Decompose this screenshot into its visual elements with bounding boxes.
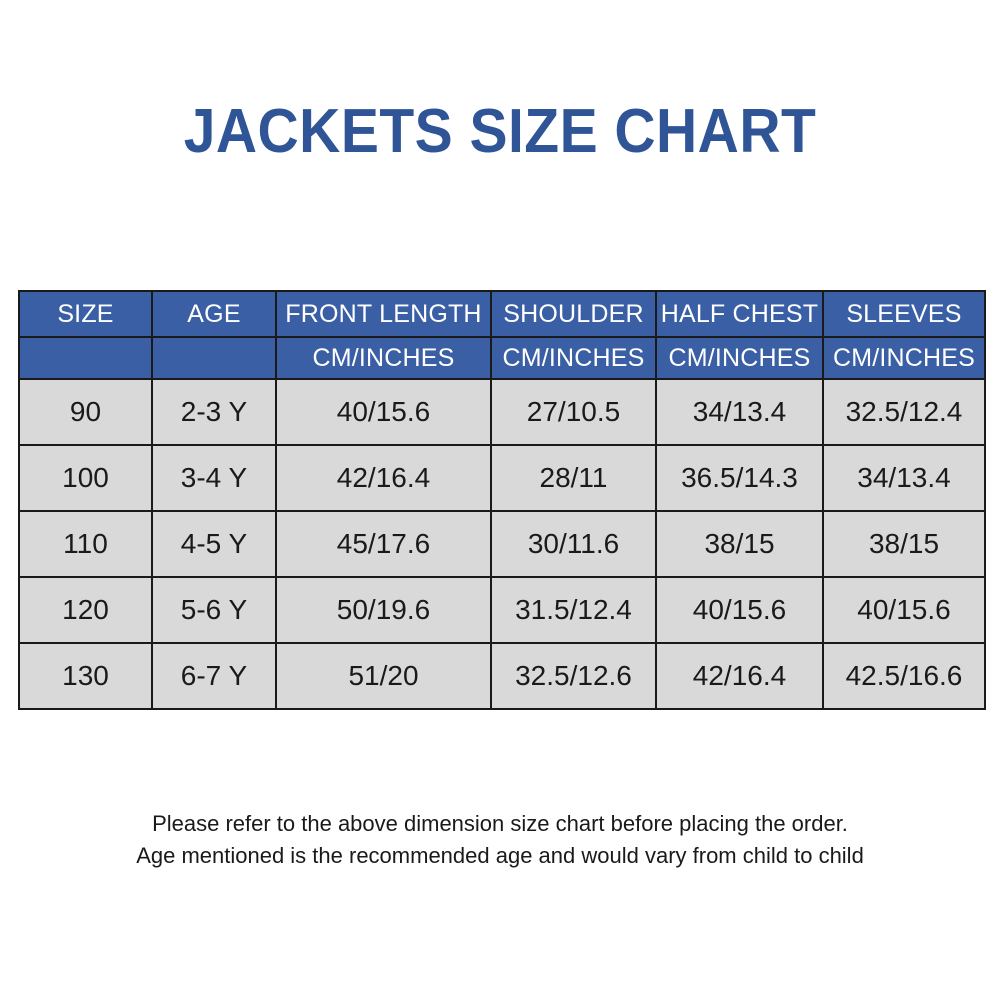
column-units-age	[152, 337, 276, 379]
footer-note: Please refer to the above dimension size…	[0, 808, 1000, 872]
cell-shoulder: 31.5/12.4	[491, 577, 656, 643]
cell-half-chest: 34/13.4	[656, 379, 823, 445]
size-chart-table: SIZE AGE FRONT LENGTH SHOULDER HALF CHES…	[18, 290, 986, 710]
cell-half-chest: 38/15	[656, 511, 823, 577]
column-header-shoulder: SHOULDER	[491, 291, 656, 337]
cell-half-chest: 36.5/14.3	[656, 445, 823, 511]
table-row: 120 5-6 Y 50/19.6 31.5/12.4 40/15.6 40/1…	[19, 577, 985, 643]
column-header-age: AGE	[152, 291, 276, 337]
table-row: 130 6-7 Y 51/20 32.5/12.6 42/16.4 42.5/1…	[19, 643, 985, 709]
column-header-front-length: FRONT LENGTH	[276, 291, 491, 337]
column-units-shoulder: CM/INCHES	[491, 337, 656, 379]
cell-half-chest: 42/16.4	[656, 643, 823, 709]
cell-shoulder: 30/11.6	[491, 511, 656, 577]
title-area: JACKETS SIZE CHART	[0, 95, 1000, 169]
cell-sleeves: 34/13.4	[823, 445, 985, 511]
cell-size: 110	[19, 511, 152, 577]
cell-shoulder: 32.5/12.6	[491, 643, 656, 709]
cell-age: 5-6 Y	[152, 577, 276, 643]
table-header-row-2: CM/INCHES CM/INCHES CM/INCHES CM/INCHES	[19, 337, 985, 379]
cell-size: 120	[19, 577, 152, 643]
column-units-sleeves: CM/INCHES	[823, 337, 985, 379]
cell-sleeves: 40/15.6	[823, 577, 985, 643]
column-header-sleeves: SLEEVES	[823, 291, 985, 337]
column-units-half-chest: CM/INCHES	[656, 337, 823, 379]
cell-size: 100	[19, 445, 152, 511]
cell-size: 130	[19, 643, 152, 709]
cell-age: 3-4 Y	[152, 445, 276, 511]
cell-shoulder: 28/11	[491, 445, 656, 511]
table-row: 90 2-3 Y 40/15.6 27/10.5 34/13.4 32.5/12…	[19, 379, 985, 445]
cell-age: 6-7 Y	[152, 643, 276, 709]
cell-sleeves: 42.5/16.6	[823, 643, 985, 709]
page-title: JACKETS SIZE CHART	[40, 95, 960, 169]
cell-age: 4-5 Y	[152, 511, 276, 577]
footer-line-1: Please refer to the above dimension size…	[0, 808, 1000, 840]
cell-shoulder: 27/10.5	[491, 379, 656, 445]
cell-half-chest: 40/15.6	[656, 577, 823, 643]
cell-front-length: 50/19.6	[276, 577, 491, 643]
cell-sleeves: 32.5/12.4	[823, 379, 985, 445]
cell-front-length: 40/15.6	[276, 379, 491, 445]
cell-front-length: 51/20	[276, 643, 491, 709]
column-units-front-length: CM/INCHES	[276, 337, 491, 379]
footer-line-2: Age mentioned is the recommended age and…	[0, 840, 1000, 872]
table-row: 110 4-5 Y 45/17.6 30/11.6 38/15 38/15	[19, 511, 985, 577]
cell-sleeves: 38/15	[823, 511, 985, 577]
cell-front-length: 45/17.6	[276, 511, 491, 577]
column-units-size	[19, 337, 152, 379]
column-header-half-chest: HALF CHEST	[656, 291, 823, 337]
cell-age: 2-3 Y	[152, 379, 276, 445]
cell-size: 90	[19, 379, 152, 445]
column-header-size: SIZE	[19, 291, 152, 337]
cell-front-length: 42/16.4	[276, 445, 491, 511]
table-header-row-1: SIZE AGE FRONT LENGTH SHOULDER HALF CHES…	[19, 291, 985, 337]
table-row: 100 3-4 Y 42/16.4 28/11 36.5/14.3 34/13.…	[19, 445, 985, 511]
